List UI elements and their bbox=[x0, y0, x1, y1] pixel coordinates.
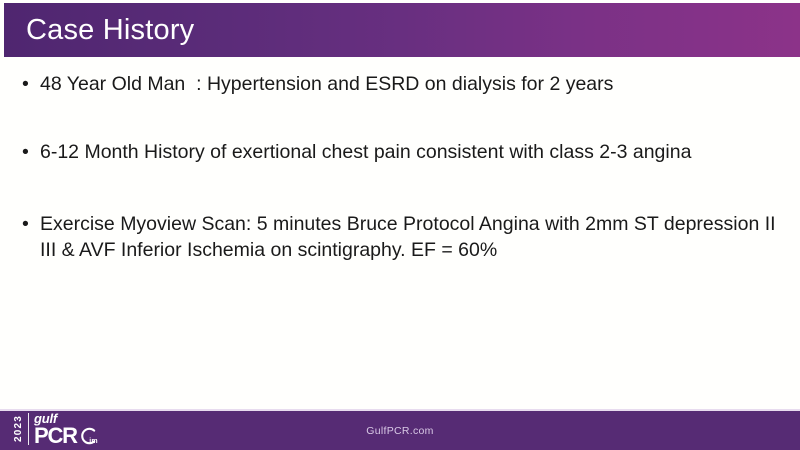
logo-c-mark-icon: im bbox=[78, 426, 98, 446]
bullet-point-icon: • bbox=[22, 72, 29, 98]
list-item-text: 48 Year Old Man : Hypertension and ESRD … bbox=[40, 72, 776, 98]
slide-canvas: Case History • 48 Year Old Man : Hyperte… bbox=[0, 0, 800, 450]
logo-pcr-text: PCR bbox=[34, 426, 77, 446]
footer-website-url-wrapper: GulfPCR.com bbox=[0, 411, 800, 450]
list-item: • Exercise Myoview Scan: 5 minutes Bruce… bbox=[0, 212, 800, 264]
bullet-point-icon: • bbox=[22, 212, 29, 238]
logo-pcr-row: PCR im bbox=[34, 426, 98, 446]
gulfpcr-logo: 2023 gulf PCR im bbox=[14, 412, 98, 448]
list-item-text: Exercise Myoview Scan: 5 minutes Bruce P… bbox=[40, 212, 776, 264]
slide-body: • 48 Year Old Man : Hypertension and ESR… bbox=[0, 62, 800, 402]
footer-website-url: GulfPCR.com bbox=[366, 425, 433, 437]
list-item: • 6-12 Month History of exertional chest… bbox=[0, 140, 800, 166]
logo-im-text: im bbox=[89, 438, 98, 445]
logo-year-label: 2023 bbox=[14, 412, 24, 445]
list-item-text: 6-12 Month History of exertional chest p… bbox=[40, 140, 776, 166]
slide-title-bar: Case History bbox=[4, 3, 800, 57]
logo-divider bbox=[28, 413, 29, 445]
bullet-list: • 48 Year Old Man : Hypertension and ESR… bbox=[0, 72, 800, 264]
list-item: • 48 Year Old Man : Hypertension and ESR… bbox=[0, 72, 800, 98]
logo-wordmark: gulf PCR im bbox=[34, 412, 98, 446]
page-title: Case History bbox=[26, 16, 194, 45]
bullet-point-icon: • bbox=[22, 140, 29, 166]
